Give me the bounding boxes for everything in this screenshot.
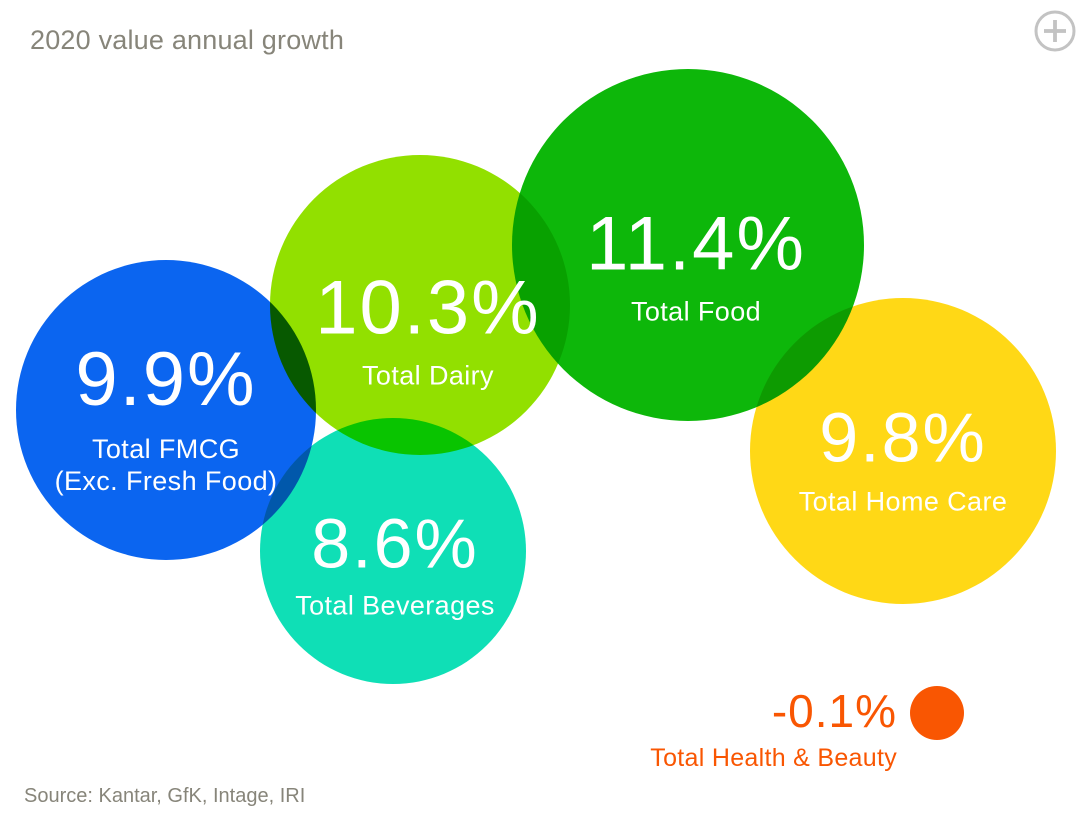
bubble-circle-dairy[interactable]: [270, 155, 570, 455]
bubble-plot: 9.9% Total FMCG (Exc. Fresh Food) 10.3% …: [0, 0, 1090, 834]
bubble-label-health: -0.1% Total Health & Beauty: [612, 688, 897, 771]
bubble-value-health: -0.1%: [612, 688, 897, 734]
bubble-circle-homecare[interactable]: [750, 298, 1056, 604]
bubble-circle-beverages[interactable]: [260, 418, 526, 684]
bubble-chart-page: 2020 value annual growth 9.9% Total FMCG…: [0, 0, 1090, 834]
bubble-name-health: Total Health & Beauty: [612, 746, 897, 771]
bubble-dot-health[interactable]: [910, 686, 964, 740]
source-note: Source: Kantar, GfK, Intage, IRI: [24, 785, 305, 808]
bubble-shapes-layer: [0, 0, 1090, 834]
